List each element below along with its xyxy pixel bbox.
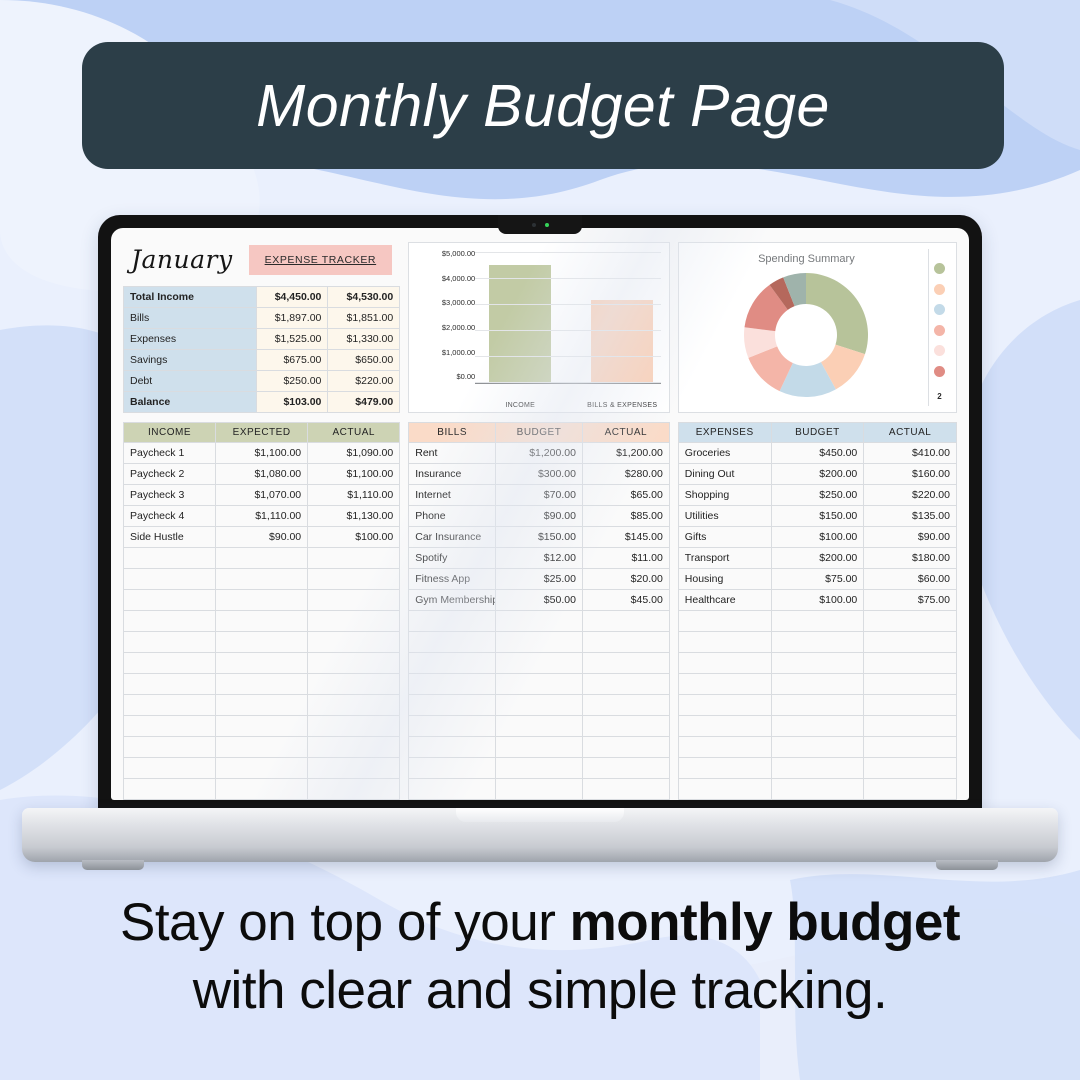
expenses-header-row: EXPENSES BUDGET ACTUAL [678, 423, 956, 443]
bills-table: BILLS BUDGET ACTUAL Rent$1,200.00$1,200.… [408, 422, 670, 800]
table-row: Transport$200.00$180.00 [678, 548, 956, 569]
empty-cell [582, 653, 669, 674]
empty-cell [864, 779, 957, 800]
bills-cell-name: Phone [409, 506, 496, 527]
summary-row-label: Total Income [124, 287, 257, 308]
bills-cell-name: Internet [409, 485, 496, 506]
income-cell-actual: $100.00 [308, 527, 400, 548]
expenses-cell-budget: $150.00 [771, 506, 864, 527]
summary-row-label: Debt [124, 371, 257, 392]
table-row-empty [409, 779, 670, 800]
income-cell-name: Side Hustle [124, 527, 216, 548]
expenses-cell-actual: $90.00 [864, 527, 957, 548]
empty-cell [216, 737, 308, 758]
table-row: Healthcare$100.00$75.00 [678, 590, 956, 611]
tagline-bold: monthly budget [570, 893, 960, 952]
table-row: Car Insurance$150.00$145.00 [409, 527, 670, 548]
legend-swatch [934, 325, 945, 336]
table-row: Rent$1,200.00$1,200.00 [409, 443, 670, 464]
bills-cell-actual: $85.00 [582, 506, 669, 527]
y-axis-tick: $2,000.00 [417, 324, 475, 332]
table-row-empty [124, 695, 400, 716]
table-row: Phone$90.00$85.00 [409, 506, 670, 527]
table-row-empty [678, 653, 956, 674]
empty-cell [864, 737, 957, 758]
x-axis-label: BILLS & EXPENSES [587, 402, 657, 409]
summary-row-label: Bills [124, 308, 257, 329]
empty-cell [678, 632, 771, 653]
donut-svg [731, 265, 881, 403]
empty-cell [308, 695, 400, 716]
table-row-empty [124, 569, 400, 590]
empty-cell [496, 611, 583, 632]
column-middle: $5,000.00$4,000.00$3,000.00$2,000.00$1,0… [408, 242, 670, 800]
empty-cell [409, 716, 496, 737]
income-cell-name: Paycheck 2 [124, 464, 216, 485]
table-row: Gifts$100.00$90.00 [678, 527, 956, 548]
bills-cell-name: Spotify [409, 548, 496, 569]
empty-cell [308, 737, 400, 758]
empty-cell [124, 716, 216, 737]
empty-cell [771, 653, 864, 674]
summary-row-label: Balance [124, 392, 257, 413]
empty-cell [496, 737, 583, 758]
bills-cell-actual: $65.00 [582, 485, 669, 506]
page-title: Monthly Budget Page [256, 72, 830, 140]
summary-row: Bills$1,897.00$1,851.00 [124, 308, 400, 329]
laptop-foot-right [936, 860, 998, 870]
empty-cell [409, 611, 496, 632]
income-col-budget: EXPECTED [216, 423, 308, 443]
empty-cell [216, 590, 308, 611]
bills-cell-budget: $70.00 [496, 485, 583, 506]
empty-cell [582, 695, 669, 716]
empty-cell [124, 758, 216, 779]
laptop-lid: January EXPENSE TRACKER Total Income$4,4… [98, 215, 982, 815]
bills-cell-budget: $150.00 [496, 527, 583, 548]
summary-row-expected: $4,450.00 [256, 287, 328, 308]
income-cell-budget: $1,110.00 [216, 506, 308, 527]
bills-cell-actual: $280.00 [582, 464, 669, 485]
empty-cell [678, 737, 771, 758]
expenses-cell-budget: $100.00 [771, 527, 864, 548]
empty-cell [308, 758, 400, 779]
expenses-cell-name: Housing [678, 569, 771, 590]
expenses-cell-budget: $200.00 [771, 548, 864, 569]
summary-table-body: Total Income$4,450.00$4,530.00Bills$1,89… [124, 287, 400, 413]
bills-cell-budget: $12.00 [496, 548, 583, 569]
summary-row-expected: $1,525.00 [256, 329, 328, 350]
empty-cell [771, 632, 864, 653]
income-cell-budget: $90.00 [216, 527, 308, 548]
table-row: Shopping$250.00$220.00 [678, 485, 956, 506]
legend-swatch [934, 284, 945, 295]
bills-cell-actual: $145.00 [582, 527, 669, 548]
summary-table: Total Income$4,450.00$4,530.00Bills$1,89… [123, 286, 400, 413]
table-row-empty [409, 737, 670, 758]
table-row-empty [678, 779, 956, 800]
legend-swatch [934, 263, 945, 274]
income-cell-name: Paycheck 4 [124, 506, 216, 527]
page-header-banner: Monthly Budget Page [82, 42, 1004, 169]
empty-cell [308, 548, 400, 569]
empty-cell [678, 758, 771, 779]
income-cell-budget: $1,070.00 [216, 485, 308, 506]
table-row-empty [409, 632, 670, 653]
income-cell-name: Paycheck 3 [124, 485, 216, 506]
expenses-col-budget: BUDGET [771, 423, 864, 443]
expenses-cell-actual: $220.00 [864, 485, 957, 506]
table-row: Gym Membership$50.00$45.00 [409, 590, 670, 611]
empty-cell [216, 674, 308, 695]
table-row: Utilities$150.00$135.00 [678, 506, 956, 527]
empty-cell [771, 716, 864, 737]
summary-row-actual: $220.00 [328, 371, 400, 392]
empty-cell [409, 674, 496, 695]
bills-col-budget: BUDGET [496, 423, 583, 443]
y-axis-tick: $0.00 [417, 373, 475, 381]
table-row-empty [678, 737, 956, 758]
table-row-empty [678, 611, 956, 632]
table-row-empty [678, 632, 956, 653]
bills-cell-actual: $11.00 [582, 548, 669, 569]
y-axis-tick: $3,000.00 [417, 299, 475, 307]
expenses-cell-name: Groceries [678, 443, 771, 464]
bills-cell-name: Fitness App [409, 569, 496, 590]
bills-col-actual: ACTUAL [582, 423, 669, 443]
empty-cell [216, 716, 308, 737]
income-cell-budget: $1,080.00 [216, 464, 308, 485]
table-row-empty [678, 716, 956, 737]
spreadsheet-screen: January EXPENSE TRACKER Total Income$4,4… [111, 228, 969, 800]
summary-row-actual: $1,330.00 [328, 329, 400, 350]
empty-cell [216, 695, 308, 716]
empty-cell [678, 716, 771, 737]
table-row: Paycheck 3$1,070.00$1,110.00 [124, 485, 400, 506]
expenses-cell-name: Healthcare [678, 590, 771, 611]
table-row: Spotify$12.00$11.00 [409, 548, 670, 569]
empty-cell [582, 632, 669, 653]
donut-chart-card: Spending Summary 2 [678, 242, 957, 413]
table-row-empty [124, 611, 400, 632]
expenses-cell-name: Transport [678, 548, 771, 569]
webcam-notch [498, 215, 582, 234]
empty-cell [496, 779, 583, 800]
expenses-cell-actual: $75.00 [864, 590, 957, 611]
laptop-base-notch [456, 808, 624, 822]
summary-row-actual: $4,530.00 [328, 287, 400, 308]
tagline-line-1: Stay on top of your monthly budget [0, 893, 1080, 954]
empty-cell [771, 758, 864, 779]
expenses-cell-name: Shopping [678, 485, 771, 506]
income-header-row: INCOME EXPECTED ACTUAL [124, 423, 400, 443]
bills-cell-budget: $90.00 [496, 506, 583, 527]
table-row-empty [409, 611, 670, 632]
income-cell-actual: $1,130.00 [308, 506, 400, 527]
expenses-cell-budget: $250.00 [771, 485, 864, 506]
empty-cell [124, 779, 216, 800]
summary-row-expected: $250.00 [256, 371, 328, 392]
empty-cell [864, 674, 957, 695]
empty-cell [864, 716, 957, 737]
sheet-header: January EXPENSE TRACKER [123, 242, 400, 277]
summary-row: Savings$675.00$650.00 [124, 350, 400, 371]
legend-swatch [934, 345, 945, 356]
table-row-empty [678, 758, 956, 779]
empty-cell [771, 695, 864, 716]
empty-cell [496, 716, 583, 737]
table-row-empty [124, 548, 400, 569]
summary-row-actual: $650.00 [328, 350, 400, 371]
empty-cell [124, 569, 216, 590]
summary-row-actual: $1,851.00 [328, 308, 400, 329]
table-row: Fitness App$25.00$20.00 [409, 569, 670, 590]
bills-header-row: BILLS BUDGET ACTUAL [409, 423, 670, 443]
expenses-cell-name: Dining Out [678, 464, 771, 485]
empty-cell [409, 653, 496, 674]
bills-cell-budget: $25.00 [496, 569, 583, 590]
x-axis-label: INCOME [505, 402, 535, 409]
gridline [475, 252, 661, 253]
donut-legend: 2 [928, 249, 950, 406]
month-title: January [131, 245, 233, 274]
bar-chart-plot: INCOMEBILLS & EXPENSES [475, 253, 661, 384]
empty-cell [582, 758, 669, 779]
empty-cell [678, 779, 771, 800]
empty-cell [216, 632, 308, 653]
expenses-cell-budget: $200.00 [771, 464, 864, 485]
donut-chart-title: Spending Summary [758, 253, 855, 265]
empty-cell [216, 569, 308, 590]
empty-cell [216, 611, 308, 632]
table-row-empty [409, 716, 670, 737]
bills-cell-budget: $1,200.00 [496, 443, 583, 464]
expenses-cell-name: Utilities [678, 506, 771, 527]
bar-bills-expenses [591, 300, 653, 383]
empty-cell [496, 674, 583, 695]
income-cell-name: Paycheck 1 [124, 443, 216, 464]
expenses-cell-budget: $450.00 [771, 443, 864, 464]
laptop-foot-left [82, 860, 144, 870]
empty-cell [582, 737, 669, 758]
empty-cell [124, 590, 216, 611]
empty-cell [864, 632, 957, 653]
table-row: Paycheck 2$1,080.00$1,100.00 [124, 464, 400, 485]
income-cell-actual: $1,090.00 [308, 443, 400, 464]
gridline [475, 278, 661, 279]
expenses-cell-actual: $160.00 [864, 464, 957, 485]
income-table-head: INCOME EXPECTED ACTUAL [124, 423, 400, 443]
empty-cell [124, 653, 216, 674]
y-axis-tick: $5,000.00 [417, 250, 475, 258]
empty-cell [216, 548, 308, 569]
empty-cell [124, 548, 216, 569]
empty-cell [582, 716, 669, 737]
table-row-empty [124, 716, 400, 737]
table-row-empty [409, 653, 670, 674]
expenses-table-head: EXPENSES BUDGET ACTUAL [678, 423, 956, 443]
table-row-empty [124, 632, 400, 653]
table-row-empty [678, 674, 956, 695]
empty-cell [582, 779, 669, 800]
bills-cell-budget: $50.00 [496, 590, 583, 611]
empty-cell [864, 758, 957, 779]
table-row-empty [409, 758, 670, 779]
income-table-body: Paycheck 1$1,100.00$1,090.00Paycheck 2$1… [124, 443, 400, 800]
bills-cell-name: Insurance [409, 464, 496, 485]
summary-row-expected: $1,897.00 [256, 308, 328, 329]
bills-table-head: BILLS BUDGET ACTUAL [409, 423, 670, 443]
empty-cell [124, 674, 216, 695]
summary-row-expected: $675.00 [256, 350, 328, 371]
table-row-empty [124, 590, 400, 611]
bills-cell-actual: $1,200.00 [582, 443, 669, 464]
empty-cell [216, 653, 308, 674]
summary-row-label: Expenses [124, 329, 257, 350]
empty-cell [409, 632, 496, 653]
table-row-empty [124, 758, 400, 779]
income-table: INCOME EXPECTED ACTUAL Paycheck 1$1,100.… [123, 422, 400, 800]
y-axis-tick: $1,000.00 [417, 349, 475, 357]
empty-cell [409, 758, 496, 779]
income-cell-actual: $1,100.00 [308, 464, 400, 485]
summary-row: Total Income$4,450.00$4,530.00 [124, 287, 400, 308]
bills-cell-budget: $300.00 [496, 464, 583, 485]
summary-row: Debt$250.00$220.00 [124, 371, 400, 392]
tagline-line-2: with clear and simple tracking. [0, 961, 1080, 1022]
empty-cell [216, 779, 308, 800]
bills-cell-name: Rent [409, 443, 496, 464]
donut-chart: Spending Summary [685, 249, 928, 406]
table-row: Internet$70.00$65.00 [409, 485, 670, 506]
legend-swatch [934, 304, 945, 315]
table-row-empty [409, 674, 670, 695]
empty-cell [496, 653, 583, 674]
empty-cell [678, 674, 771, 695]
bar-chart: $5,000.00$4,000.00$3,000.00$2,000.00$1,0… [417, 253, 661, 406]
expenses-cell-actual: $180.00 [864, 548, 957, 569]
empty-cell [409, 695, 496, 716]
summary-row-expected: $103.00 [256, 392, 328, 413]
expenses-cell-budget: $75.00 [771, 569, 864, 590]
empty-cell [771, 779, 864, 800]
bills-cell-actual: $45.00 [582, 590, 669, 611]
table-row-empty [124, 674, 400, 695]
empty-cell [496, 695, 583, 716]
empty-cell [582, 674, 669, 695]
empty-cell [771, 674, 864, 695]
bills-cell-name: Gym Membership [409, 590, 496, 611]
table-row-empty [409, 695, 670, 716]
expenses-table-body: Groceries$450.00$410.00Dining Out$200.00… [678, 443, 956, 800]
bar-chart-y-axis: $5,000.00$4,000.00$3,000.00$2,000.00$1,0… [417, 253, 475, 406]
empty-cell [308, 716, 400, 737]
empty-cell [678, 653, 771, 674]
table-row-empty [124, 779, 400, 800]
empty-cell [216, 758, 308, 779]
income-cell-actual: $1,110.00 [308, 485, 400, 506]
table-row-empty [678, 695, 956, 716]
gridline [475, 382, 661, 383]
empty-cell [308, 569, 400, 590]
empty-cell [582, 611, 669, 632]
empty-cell [308, 653, 400, 674]
gridline [475, 330, 661, 331]
empty-cell [308, 590, 400, 611]
empty-cell [678, 611, 771, 632]
table-row: Side Hustle$90.00$100.00 [124, 527, 400, 548]
y-axis-tick: $4,000.00 [417, 275, 475, 283]
empty-cell [678, 695, 771, 716]
expenses-col-name: EXPENSES [678, 423, 771, 443]
empty-cell [864, 611, 957, 632]
income-col-name: INCOME [124, 423, 216, 443]
table-row: Paycheck 1$1,100.00$1,090.00 [124, 443, 400, 464]
table-row: Insurance$300.00$280.00 [409, 464, 670, 485]
summary-row-actual: $479.00 [328, 392, 400, 413]
legend-swatch [934, 366, 945, 377]
empty-cell [409, 779, 496, 800]
income-col-actual: ACTUAL [308, 423, 400, 443]
laptop-base [22, 808, 1058, 862]
table-row: Groceries$450.00$410.00 [678, 443, 956, 464]
empty-cell [308, 779, 400, 800]
expenses-cell-actual: $410.00 [864, 443, 957, 464]
empty-cell [308, 632, 400, 653]
tagline: Stay on top of your monthly budget with … [0, 893, 1080, 1022]
empty-cell [771, 611, 864, 632]
gridline [475, 356, 661, 357]
expenses-col-actual: ACTUAL [864, 423, 957, 443]
legend-number: 2 [937, 392, 941, 401]
bills-col-name: BILLS [409, 423, 496, 443]
column-left: January EXPENSE TRACKER Total Income$4,4… [123, 242, 400, 800]
expenses-cell-budget: $100.00 [771, 590, 864, 611]
summary-row: Balance$103.00$479.00 [124, 392, 400, 413]
bills-cell-actual: $20.00 [582, 569, 669, 590]
empty-cell [496, 758, 583, 779]
table-row-empty [124, 653, 400, 674]
table-row: Housing$75.00$60.00 [678, 569, 956, 590]
empty-cell [864, 653, 957, 674]
empty-cell [124, 632, 216, 653]
expenses-cell-actual: $135.00 [864, 506, 957, 527]
bar-income [489, 265, 551, 383]
expenses-table: EXPENSES BUDGET ACTUAL Groceries$450.00$… [678, 422, 957, 800]
empty-cell [864, 695, 957, 716]
income-cell-budget: $1,100.00 [216, 443, 308, 464]
empty-cell [496, 632, 583, 653]
column-right: Spending Summary 2 EXPENSES BUDGET ACTUA… [678, 242, 957, 800]
camera-icon [532, 223, 536, 227]
donut-segment [806, 273, 868, 354]
empty-cell [308, 674, 400, 695]
bills-cell-name: Car Insurance [409, 527, 496, 548]
empty-cell [771, 737, 864, 758]
table-row: Paycheck 4$1,110.00$1,130.00 [124, 506, 400, 527]
empty-cell [124, 611, 216, 632]
expense-tracker-badge[interactable]: EXPENSE TRACKER [249, 245, 393, 275]
expenses-cell-actual: $60.00 [864, 569, 957, 590]
tagline-plain: Stay on top of your [120, 893, 570, 952]
empty-cell [409, 737, 496, 758]
gridline [475, 304, 661, 305]
table-row-empty [124, 737, 400, 758]
summary-row-label: Savings [124, 350, 257, 371]
expenses-cell-name: Gifts [678, 527, 771, 548]
empty-cell [124, 737, 216, 758]
bills-table-body: Rent$1,200.00$1,200.00Insurance$300.00$2… [409, 443, 670, 800]
